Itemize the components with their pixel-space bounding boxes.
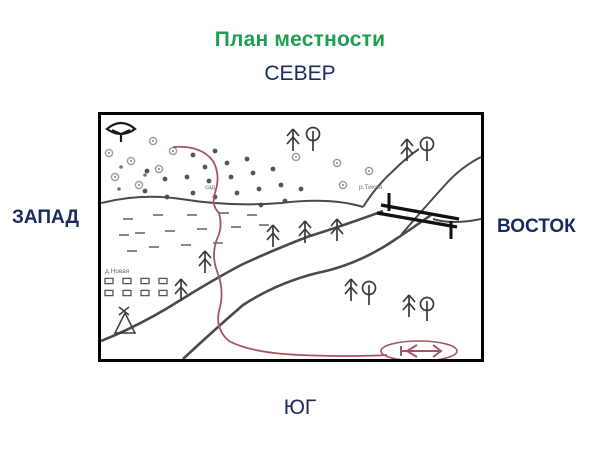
page-root: План местности СЕВЕР ЗАПАД ВОСТОК ЮГ [0,0,600,450]
map-frame: сад [98,112,484,362]
orchard-label: сад [205,185,215,191]
road-network [101,149,481,359]
bush-area [105,137,372,190]
tent-icon [115,307,135,333]
page-title: План местности [0,28,600,52]
spring-icon [381,341,457,359]
compass-label-south: ЮГ [0,396,600,420]
compass-label-east: ВОСТОК [497,216,576,238]
village-label: д.Новая [105,268,130,275]
compass-label-west: ЗАПАД [12,206,90,230]
village-novaya: д.Новая [105,268,167,296]
windmill-icon [107,123,135,142]
river-label: р.Тихая [359,184,383,191]
compass-label-north: СЕВЕР [0,62,600,86]
forest-symbols [175,128,434,322]
meadow-area [119,213,269,251]
map-canvas: сад [101,115,481,359]
river-upper-bank [363,149,419,207]
orchard-area: сад [143,149,304,208]
road-upper [101,197,363,207]
